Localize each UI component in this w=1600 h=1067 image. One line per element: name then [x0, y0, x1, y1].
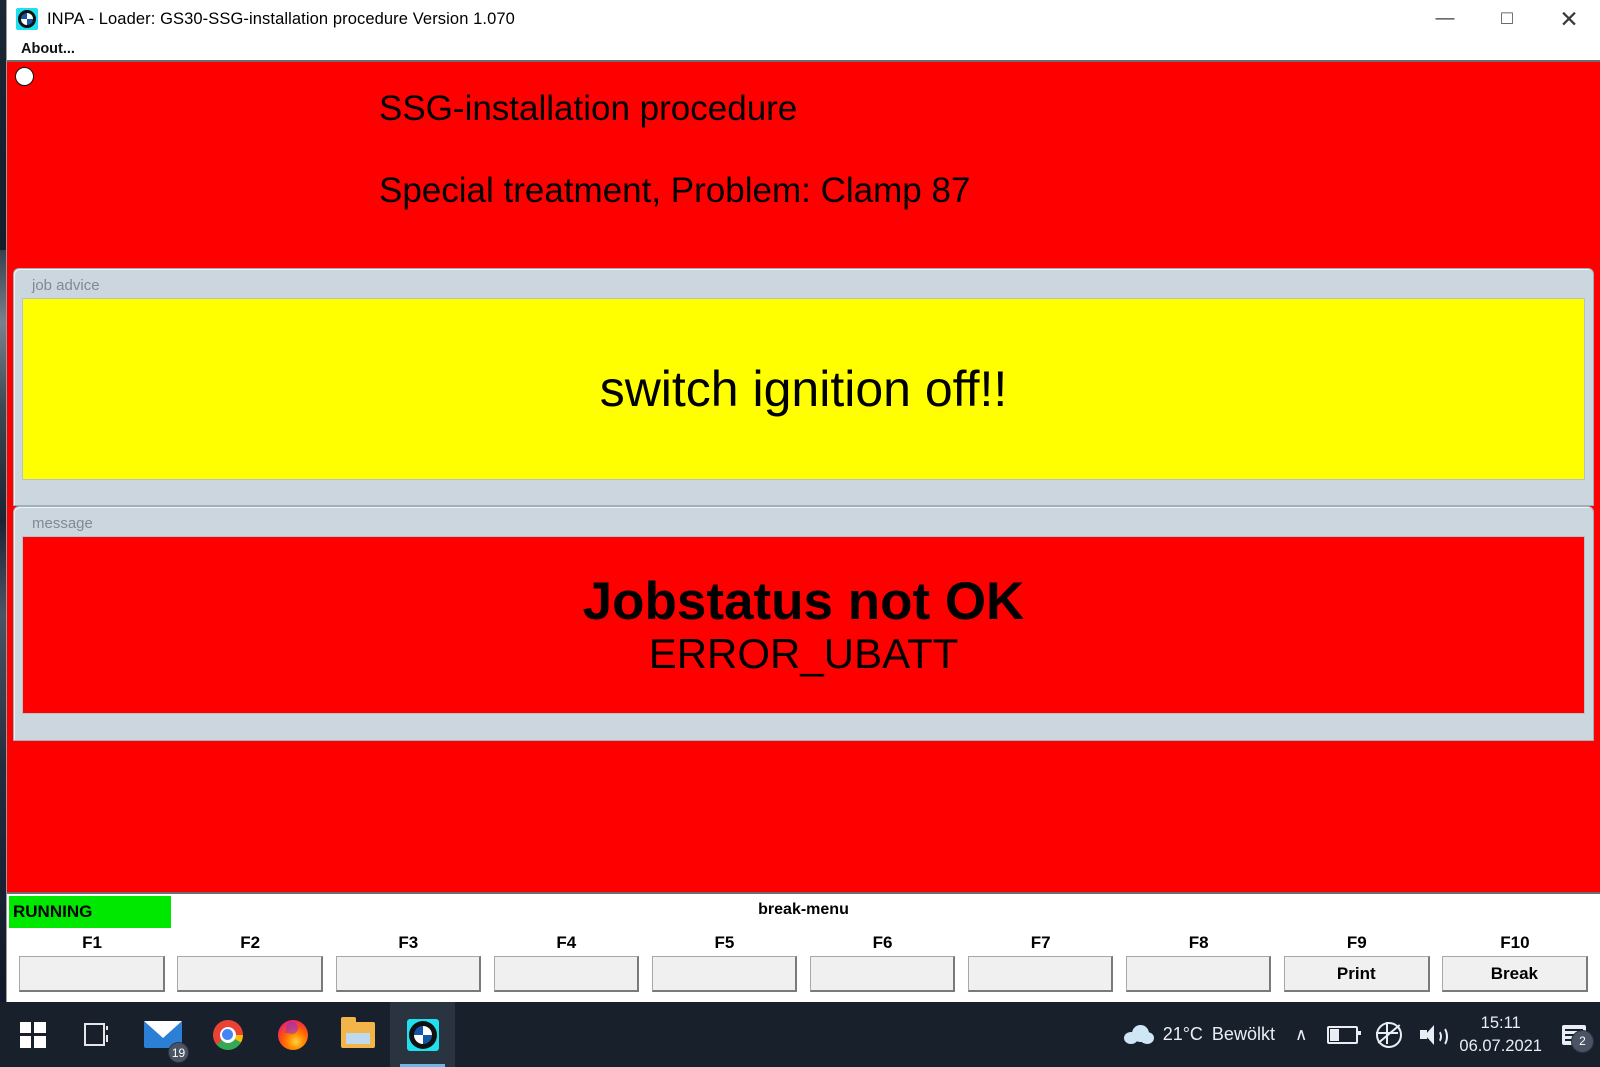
header-panel: SSG-installation procedure Special treat… — [7, 62, 1600, 268]
function-key-f9[interactable]: F9 Print — [1278, 930, 1436, 998]
bmw-roundel-icon — [16, 8, 38, 30]
menu-bar: About... — [7, 38, 1600, 60]
fkey-button[interactable] — [494, 956, 639, 992]
notifications-button[interactable]: 2 — [1554, 1015, 1594, 1055]
notifications-badge: 2 — [1571, 1030, 1594, 1053]
chrome-icon — [213, 1020, 243, 1050]
start-button[interactable] — [0, 1002, 65, 1067]
fkey-button[interactable] — [652, 956, 797, 992]
firefox-app[interactable] — [260, 1002, 325, 1067]
fkey-label: F8 — [1189, 930, 1209, 956]
fkey-label: F4 — [556, 930, 576, 956]
status-dot-icon — [15, 67, 34, 86]
clock[interactable]: 15:11 06.07.2021 — [1459, 1012, 1542, 1057]
function-key-f3[interactable]: F3 — [329, 930, 487, 998]
weather-temp: 21°C — [1163, 1024, 1203, 1045]
minimize-button[interactable]: — — [1414, 0, 1476, 38]
break-menu-title: break-menu — [7, 901, 1600, 919]
function-key-bar: RUNNING break-menu F1 F2 F3 F4 — [7, 892, 1600, 1002]
job-advice-text: switch ignition off!! — [600, 364, 1008, 414]
mail-badge: 19 — [168, 1042, 189, 1063]
header-line-1: SSG-installation procedure — [379, 90, 1600, 128]
fkey-button[interactable] — [19, 956, 164, 992]
taskbar-apps: 19 — [0, 1002, 455, 1067]
function-key-f1[interactable]: F1 — [13, 930, 171, 998]
fkey-button[interactable] — [336, 956, 481, 992]
task-view-button[interactable] — [65, 1002, 130, 1067]
system-tray: 21°C Bewölkt ∧ 15:11 06.07.2021 2 — [1115, 1002, 1600, 1067]
break-button[interactable]: Break — [1442, 956, 1587, 992]
function-key-f10[interactable]: F10 Break — [1436, 930, 1594, 998]
fkey-button[interactable] — [968, 956, 1113, 992]
window-title: INPA - Loader: GS30-SSG-installation pro… — [47, 10, 515, 29]
chevron-up-icon[interactable]: ∧ — [1295, 1025, 1307, 1045]
task-view-icon — [84, 1023, 111, 1046]
clock-time: 15:11 — [1481, 1012, 1521, 1034]
client-area: SSG-installation procedure Special treat… — [7, 60, 1600, 1002]
fkey-label: F3 — [398, 930, 418, 956]
function-key-f8[interactable]: F8 — [1120, 930, 1278, 998]
inpa-app[interactable] — [390, 1002, 455, 1067]
bottom-red-filler — [7, 741, 1600, 892]
folder-icon — [341, 1022, 375, 1048]
windows-taskbar: 19 21°C Bewölkt ∧ 15:11 06.07.2021 — [0, 1002, 1600, 1067]
fkey-label: F6 — [873, 930, 893, 956]
header-line-2: Special treatment, Problem: Clamp 87 — [379, 172, 1600, 210]
message-group: message Jobstatus not OK ERROR_UBATT — [13, 506, 1594, 741]
fkey-label: F5 — [715, 930, 735, 956]
fkey-label: F9 — [1347, 930, 1367, 956]
message-title: Jobstatus not OK — [583, 574, 1025, 630]
inpa-loader-window: INPA - Loader: GS30-SSG-installation pro… — [7, 0, 1600, 1002]
function-key-f6[interactable]: F6 — [803, 930, 961, 998]
bmw-roundel-icon — [407, 1019, 439, 1051]
weather-widget[interactable]: 21°C Bewölkt — [1124, 1024, 1275, 1045]
fkey-label: F7 — [1031, 930, 1051, 956]
message-label: message — [14, 507, 1593, 536]
function-key-f2[interactable]: F2 — [171, 930, 329, 998]
chrome-app[interactable] — [195, 1002, 260, 1067]
maximize-button[interactable]: □ — [1476, 0, 1538, 38]
clock-date: 06.07.2021 — [1459, 1035, 1542, 1057]
cloud-icon — [1124, 1025, 1154, 1044]
speaker-icon[interactable] — [1420, 1025, 1444, 1045]
fkey-button[interactable] — [177, 956, 322, 992]
windows-logo-icon — [20, 1022, 46, 1048]
menu-item-about[interactable]: About... — [21, 41, 75, 57]
weather-desc: Bewölkt — [1212, 1024, 1275, 1045]
fkey-button[interactable] — [810, 956, 955, 992]
close-button[interactable]: ✕ — [1538, 0, 1600, 38]
globe-disconnected-icon[interactable] — [1376, 1022, 1402, 1048]
fkey-label: F1 — [82, 930, 102, 956]
job-advice-body: switch ignition off!! — [22, 298, 1585, 480]
message-body: Jobstatus not OK ERROR_UBATT — [22, 536, 1585, 714]
function-key-f4[interactable]: F4 — [487, 930, 645, 998]
function-key-f7[interactable]: F7 — [962, 930, 1120, 998]
job-advice-group: job advice switch ignition off!! — [13, 268, 1594, 506]
print-button[interactable]: Print — [1284, 956, 1429, 992]
function-keys: F1 F2 F3 F4 F5 — [7, 930, 1600, 998]
function-key-f5[interactable]: F5 — [645, 930, 803, 998]
battery-icon[interactable] — [1327, 1026, 1358, 1044]
job-advice-label: job advice — [14, 269, 1593, 298]
title-bar: INPA - Loader: GS30-SSG-installation pro… — [7, 0, 1600, 38]
firefox-icon — [278, 1020, 308, 1050]
message-subtitle: ERROR_UBATT — [649, 632, 959, 676]
fkey-label: F2 — [240, 930, 260, 956]
fkey-button[interactable] — [1126, 956, 1271, 992]
window-controls: — □ ✕ — [1414, 0, 1600, 38]
file-explorer-app[interactable] — [325, 1002, 390, 1067]
fkey-label: F10 — [1500, 930, 1529, 956]
mail-app[interactable]: 19 — [130, 1002, 195, 1067]
